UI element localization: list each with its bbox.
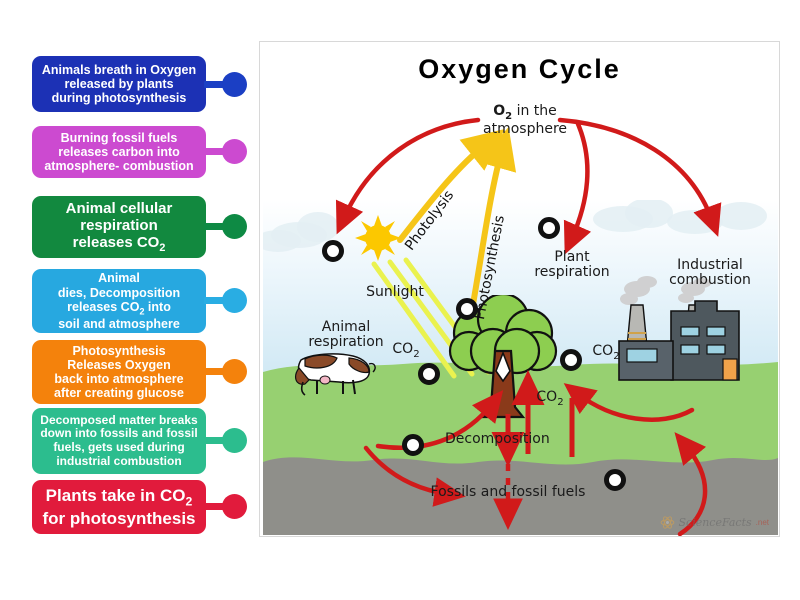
callout-dot-decomposed-matter[interactable] <box>222 428 247 453</box>
callout-animal-dies-decomposition[interactable]: Animaldies, Decompositionreleases CO2 in… <box>32 269 206 333</box>
callout-label: Animal cellularrespirationreleases CO2 <box>40 200 198 254</box>
cycle-node[interactable] <box>604 469 626 491</box>
callout-label: Burning fossil fuelsreleases carbon into… <box>40 131 198 174</box>
cycle-node[interactable] <box>322 240 344 262</box>
factory-icon <box>613 275 743 390</box>
label-industrial-combustion: Industrialcombustion <box>656 258 764 289</box>
label-co2-tree-uptake: CO2 <box>530 390 570 408</box>
callout-decomposed-matter[interactable]: Decomposed matter breaksdown into fossil… <box>32 408 206 474</box>
cow-icon <box>291 350 377 396</box>
callout-dot-animal-cellular-respiration[interactable] <box>222 214 247 239</box>
callout-label: Plants take in CO2for photosynthesis <box>40 486 198 529</box>
oxygen-cycle-diagram: Oxygen Cycle <box>259 41 780 537</box>
callout-dot-photosynthesis-releases-oxygen[interactable] <box>222 359 247 384</box>
callout-label: Animals breath in Oxygenreleased by plan… <box>40 63 198 106</box>
watermark: ScienceFacts .net <box>660 515 770 530</box>
callout-label: PhotosynthesisReleases Oxygenback into a… <box>40 344 198 401</box>
callout-dot-animal-dies-decomposition[interactable] <box>222 288 247 313</box>
page-title: Oxygen Cycle <box>260 54 779 85</box>
cloud-icon <box>297 212 339 242</box>
cycle-node[interactable] <box>402 434 424 456</box>
callout-burning-fossil-fuels[interactable]: Burning fossil fuelsreleases carbon into… <box>32 126 206 178</box>
label-plant-respiration: Plantrespiration <box>524 250 620 281</box>
callout-animal-cellular-respiration[interactable]: Animal cellularrespirationreleases CO2 <box>32 196 206 258</box>
callout-dot-plants-take-in-co2[interactable] <box>222 494 247 519</box>
label-co2-animal: CO2 <box>386 342 426 360</box>
cycle-node[interactable] <box>418 363 440 385</box>
cycle-node[interactable] <box>538 217 560 239</box>
atom-icon <box>660 515 675 530</box>
label-co2-factory: CO2 <box>586 344 626 362</box>
label-fossils-fossil-fuels: Fossils and fossil fuels <box>408 485 608 500</box>
label-animal-respiration: Animalrespiration <box>296 320 396 351</box>
callout-photosynthesis-releases-oxygen[interactable]: PhotosynthesisReleases Oxygenback into a… <box>32 340 206 404</box>
watermark-suffix: .net <box>756 518 769 527</box>
callout-dot-animals-breath-oxygen[interactable] <box>222 72 247 97</box>
label-sunlight: Sunlight <box>356 285 434 300</box>
sun-icon <box>355 215 401 261</box>
cycle-node[interactable] <box>560 349 582 371</box>
callout-label: Decomposed matter breaksdown into fossil… <box>40 414 198 469</box>
callout-animals-breath-oxygen[interactable]: Animals breath in Oxygenreleased by plan… <box>32 56 206 112</box>
callout-sidebar: Animals breath in Oxygenreleased by plan… <box>0 0 258 600</box>
callout-label: Animaldies, Decompositionreleases CO2 in… <box>40 271 198 331</box>
label-o2-atmosphere: O2 in theatmosphere <box>475 104 575 137</box>
cycle-node[interactable] <box>456 298 478 320</box>
cloud-icon <box>715 202 767 230</box>
watermark-text: ScienceFacts <box>679 516 752 529</box>
callout-dot-burning-fossil-fuels[interactable] <box>222 139 247 164</box>
label-decomposition: Decomposition <box>445 432 565 447</box>
callout-plants-take-in-co2[interactable]: Plants take in CO2for photosynthesis <box>32 480 206 534</box>
